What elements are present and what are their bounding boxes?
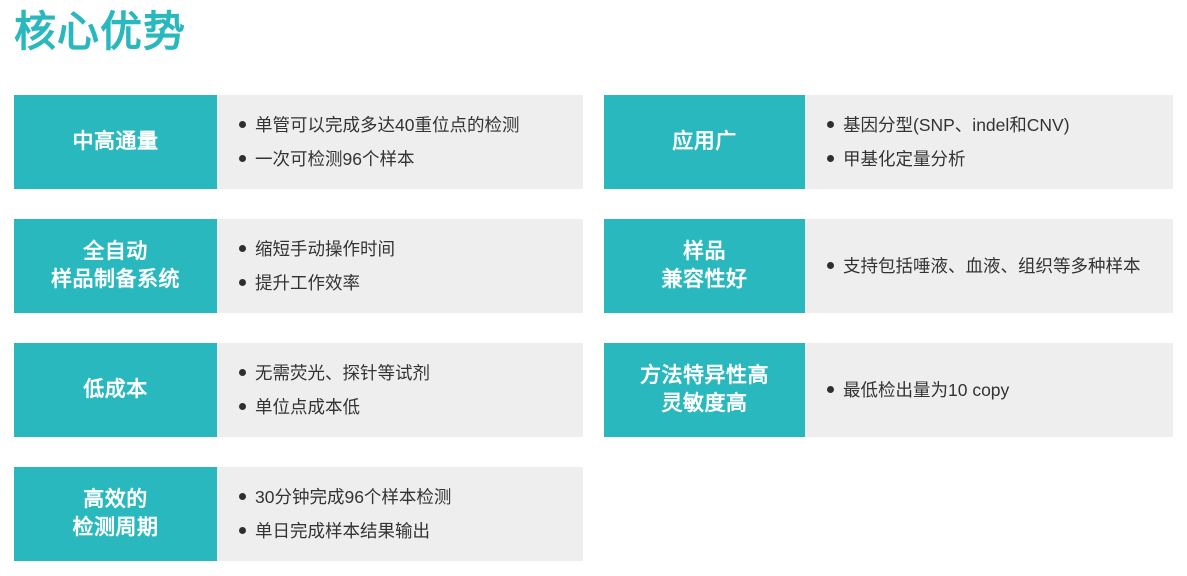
bullet-text: 最低检出量为10 copy [843,376,1155,404]
card-label-line: 检测周期 [73,514,159,542]
bullet-text: 单日完成样本结果输出 [255,517,565,545]
card-label-line: 低成本 [83,376,148,404]
bullet-dot-icon [239,493,246,500]
card-label-row2-left: 全自动 样品制备系统 [14,219,217,313]
bullet-text: 无需荧光、探针等试剂 [255,359,565,387]
bullet-text: 甲基化定量分析 [843,145,1155,173]
card-label-line: 兼容性好 [662,266,748,294]
advantage-card-row4-right-empty [604,467,1173,561]
bullet-dot-icon [239,527,246,534]
bullet-text: 缩短手动操作时间 [255,235,565,263]
core-advantages-page: 核心优势 中高通量 单管可以完成多达40重位点的检测 一次可检测96个样本 应用 [0,0,1187,576]
bullet-dot-icon [239,279,246,286]
card-label-line: 样品制备系统 [51,266,180,294]
bullet-text: 30分钟完成96个样本检测 [255,483,565,511]
bullet-text: 支持包括唾液、血液、组织等多种样本 [843,252,1155,280]
bullet-item: 缩短手动操作时间 [239,232,565,266]
bullet-item: 单管可以完成多达40重位点的检测 [239,108,565,142]
bullet-dot-icon [827,121,834,128]
bullet-text: 单位点成本低 [255,393,565,421]
bullet-text: 基因分型(SNP、indel和CNV) [843,111,1155,139]
advantage-card-row1-right: 应用广 基因分型(SNP、indel和CNV) 甲基化定量分析 [604,95,1173,189]
card-body-row3-left: 无需荧光、探针等试剂 单位点成本低 [217,343,583,437]
bullet-item: 单日完成样本结果输出 [239,514,565,548]
card-label-line: 样品 [683,238,726,266]
bullet-dot-icon [827,155,834,162]
bullet-dot-icon [827,386,834,393]
card-label-row1-left: 中高通量 [14,95,217,189]
card-body-row1-right: 基因分型(SNP、indel和CNV) 甲基化定量分析 [805,95,1173,189]
card-label-row1-right: 应用广 [604,95,805,189]
bullet-item: 基因分型(SNP、indel和CNV) [827,108,1155,142]
bullet-text: 单管可以完成多达40重位点的检测 [255,111,565,139]
bullet-item: 支持包括唾液、血液、组织等多种样本 [827,249,1155,283]
card-label-line: 灵敏度高 [662,390,748,418]
card-body-row2-right: 支持包括唾液、血液、组织等多种样本 [805,219,1173,313]
bullet-item: 30分钟完成96个样本检测 [239,480,565,514]
bullet-item: 一次可检测96个样本 [239,142,565,176]
card-body-row3-right: 最低检出量为10 copy [805,343,1173,437]
bullet-item: 单位点成本低 [239,390,565,424]
card-label-row2-right: 样品 兼容性好 [604,219,805,313]
bullet-text: 提升工作效率 [255,269,565,297]
bullet-dot-icon [239,121,246,128]
bullet-dot-icon [239,155,246,162]
page-title: 核心优势 [14,8,186,56]
card-label-row4-left: 高效的 检测周期 [14,467,217,561]
bullet-item: 提升工作效率 [239,266,565,300]
card-label-row3-left: 低成本 [14,343,217,437]
bullet-text: 一次可检测96个样本 [255,145,565,173]
advantage-card-row3-right: 方法特异性高 灵敏度高 最低检出量为10 copy [604,343,1173,437]
advantage-card-row3-left: 低成本 无需荧光、探针等试剂 单位点成本低 [14,343,583,437]
card-label-line: 中高通量 [73,128,159,156]
card-body-row1-left: 单管可以完成多达40重位点的检测 一次可检测96个样本 [217,95,583,189]
advantage-card-grid: 中高通量 单管可以完成多达40重位点的检测 一次可检测96个样本 应用广 [14,95,1173,561]
advantage-card-row2-left: 全自动 样品制备系统 缩短手动操作时间 提升工作效率 [14,219,583,313]
bullet-dot-icon [239,245,246,252]
bullet-item: 最低检出量为10 copy [827,373,1155,407]
card-label-line: 高效的 [83,486,148,514]
bullet-item: 甲基化定量分析 [827,142,1155,176]
advantage-card-row4-left: 高效的 检测周期 30分钟完成96个样本检测 单日完成样本结果输出 [14,467,583,561]
card-label-row3-right: 方法特异性高 灵敏度高 [604,343,805,437]
card-body-row4-left: 30分钟完成96个样本检测 单日完成样本结果输出 [217,467,583,561]
bullet-dot-icon [239,403,246,410]
card-label-line: 应用广 [672,128,737,156]
card-label-line: 全自动 [83,238,148,266]
advantage-card-row2-right: 样品 兼容性好 支持包括唾液、血液、组织等多种样本 [604,219,1173,313]
bullet-item: 无需荧光、探针等试剂 [239,356,565,390]
bullet-dot-icon [239,369,246,376]
card-label-line: 方法特异性高 [640,362,769,390]
card-body-row2-left: 缩短手动操作时间 提升工作效率 [217,219,583,313]
advantage-card-row1-left: 中高通量 单管可以完成多达40重位点的检测 一次可检测96个样本 [14,95,583,189]
bullet-dot-icon [827,262,834,269]
